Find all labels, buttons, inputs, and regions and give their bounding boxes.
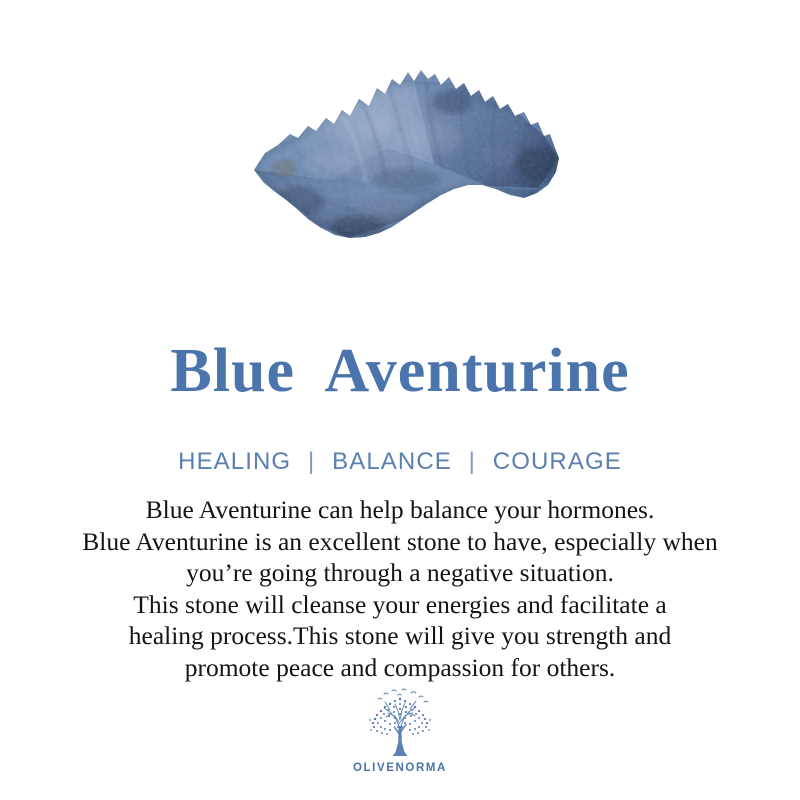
- description-line: This stone will cleanse your energies an…: [20, 589, 780, 621]
- stone-title: Blue Aventurine: [0, 336, 800, 406]
- brand-logo[interactable]: OLIVENORMA: [0, 686, 800, 774]
- brand-wordmark: OLIVENORMA: [0, 762, 800, 774]
- keyword-separator-1: |: [299, 446, 324, 478]
- stone-grain-dark: [238, 52, 568, 282]
- description-line: you’re going through a negative situatio…: [20, 557, 780, 589]
- keyword-balance: BALANCE: [332, 448, 452, 475]
- description-line: healing process.This stone will give you…: [20, 620, 780, 652]
- keyword-separator-2: |: [460, 446, 485, 478]
- stone-body: [238, 52, 568, 282]
- description-line: promote peace and compassion for others.: [20, 652, 780, 684]
- description-line: Blue Aventurine can help balance your ho…: [20, 494, 780, 526]
- keyword-healing: HEALING: [178, 448, 291, 475]
- description-paragraph: Blue Aventurine can help balance your ho…: [20, 494, 780, 683]
- keyword-list: HEALING | BALANCE | COURAGE: [0, 446, 800, 478]
- keyword-courage: COURAGE: [493, 448, 622, 475]
- description-line: Blue Aventurine is an excellent stone to…: [20, 526, 780, 558]
- stone-info-card: Blue Aventurine HEALING | BALANCE | COUR…: [0, 0, 800, 800]
- hero-image-area: [0, 0, 800, 300]
- olivenorma-tree-icon: [354, 686, 446, 760]
- blue-aventurine-stone-image: [238, 52, 568, 282]
